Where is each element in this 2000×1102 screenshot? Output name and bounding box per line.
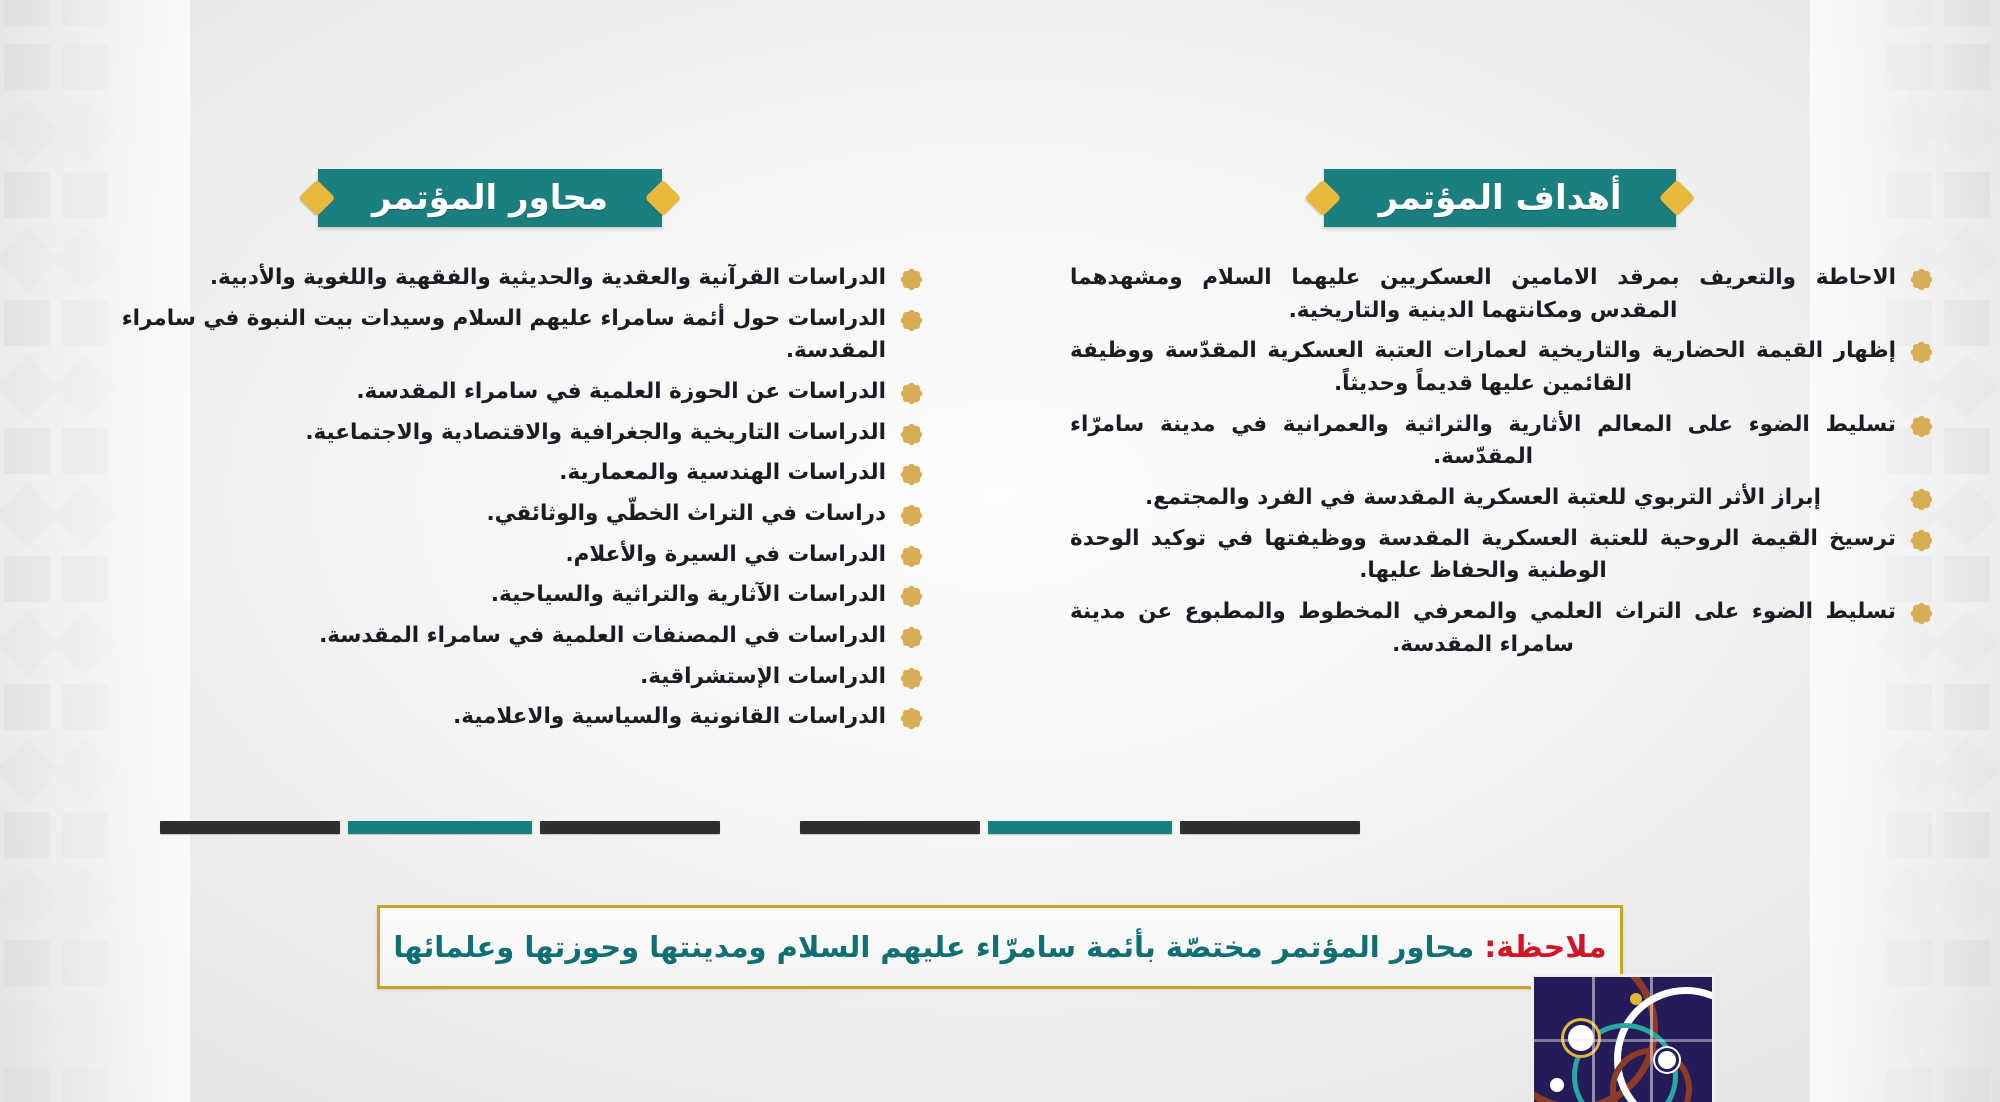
list-item-text: الدراسات الآثارية والتراثية والسياحية. (491, 582, 886, 607)
list-item-text: إبراز الأثر التربوي للعتبة العسكرية المق… (1145, 485, 1821, 510)
list-item: دراسات في التراث الخطّي والوثائقي. (60, 498, 920, 531)
star-bullet-icon (903, 670, 920, 687)
note-label: ملاحظة: (1484, 930, 1606, 965)
list-item-text: الدراسات الإستشراقية. (640, 664, 886, 689)
list-item: الدراسات في المصنفات العلمية في سامراء ا… (60, 620, 920, 653)
note-box: ملاحظة: محاور المؤتمر مختصّة بأئمة سامرّ… (377, 905, 1623, 989)
objectives-banner-plate: أهداف المؤتمر (1324, 169, 1675, 227)
star-bullet-icon (903, 271, 920, 288)
list-item: الدراسات القرآنية والعقدية والحديثية وال… (60, 262, 920, 295)
list-item: إظهار القيمة الحضارية والتاريخية لعمارات… (1070, 335, 1930, 400)
star-bullet-icon (1913, 605, 1930, 622)
star-bullet-icon (903, 426, 920, 443)
star-bullet-icon (903, 710, 920, 727)
diamond-icon (645, 180, 682, 217)
list-item: الدراسات الإستشراقية. (60, 661, 920, 694)
divider-segment-dark (540, 821, 720, 834)
list-item: تسليط الضوء على التراث العلمي والمعرفي ا… (1070, 596, 1930, 661)
star-bullet-icon (903, 507, 920, 524)
list-item-text: ترسيخ القيمة الروحية للعتبة العسكرية الم… (1070, 526, 1896, 584)
objectives-title: أهداف المؤتمر (1378, 181, 1621, 215)
list-item: الاحاطة والتعريف بمرقد الامامين العسكريي… (1070, 262, 1930, 327)
flower-motif (1550, 1078, 1564, 1092)
star-bullet-icon (903, 312, 920, 329)
divider-segment-teal (348, 821, 532, 834)
poster-page: أهداف المؤتمر الاحاطة والتعريف بمرقد الا… (0, 0, 2000, 1102)
list-item-text: الدراسات القانونية والسياسية والاعلامية. (453, 704, 886, 729)
diamond-icon (299, 180, 336, 217)
content-columns: أهداف المؤتمر الاحاطة والتعريف بمرقد الا… (0, 0, 2000, 860)
list-item: إبراز الأثر التربوي للعتبة العسكرية المق… (1070, 482, 1930, 515)
star-bullet-icon (903, 548, 920, 565)
list-item: الدراسات التاريخية والجغرافية والاقتصادي… (60, 417, 920, 450)
star-bullet-icon (903, 588, 920, 605)
divider-segment-teal (988, 821, 1172, 834)
objectives-list: الاحاطة والتعريف بمرقد الامامين العسكريي… (1070, 262, 1930, 661)
list-item-text: الدراسات الهندسية والمعمارية. (559, 460, 886, 485)
list-item-text: الدراسات القرآنية والعقدية والحديثية وال… (210, 265, 886, 290)
themes-banner: محاور المؤتمر (60, 160, 920, 236)
islamic-tile-ornament (1534, 977, 1712, 1102)
themes-divider (160, 820, 720, 834)
note-inner: ملاحظة: محاور المؤتمر مختصّة بأئمة سامرّ… (393, 930, 1606, 965)
list-item-text: الدراسات حول أئمة سامراء عليهم السلام وس… (122, 306, 886, 364)
list-item: الدراسات الآثارية والتراثية والسياحية. (60, 579, 920, 612)
themes-column: محاور المؤتمر الدراسات القرآنية والعقدية… (60, 0, 920, 742)
list-item: الدراسات حول أئمة سامراء عليهم السلام وس… (60, 303, 920, 368)
divider-segment-dark (160, 821, 340, 834)
star-bullet-icon (1913, 491, 1930, 508)
divider-segment-dark (800, 821, 980, 834)
objectives-column: أهداف المؤتمر الاحاطة والتعريف بمرقد الا… (1070, 0, 1930, 669)
list-item-text: دراسات في التراث الخطّي والوثائقي. (487, 501, 886, 526)
themes-list: الدراسات القرآنية والعقدية والحديثية وال… (60, 262, 920, 734)
list-item-text: الدراسات التاريخية والجغرافية والاقتصادي… (305, 420, 886, 445)
flower-motif (1630, 993, 1642, 1005)
flower-motif (1658, 1051, 1676, 1069)
objectives-banner: أهداف المؤتمر (1070, 160, 1930, 236)
list-item-text: تسليط الضوء على المعالم الأثارية والتراث… (1070, 412, 1896, 470)
tile-seam (1534, 1039, 1712, 1042)
list-item-text: تسليط الضوء على التراث العلمي والمعرفي ا… (1070, 599, 1896, 657)
list-item: ترسيخ القيمة الروحية للعتبة العسكرية الم… (1070, 523, 1930, 588)
list-item-text: إظهار القيمة الحضارية والتاريخية لعمارات… (1070, 338, 1896, 396)
objectives-divider (800, 820, 1360, 834)
star-bullet-icon (1913, 271, 1930, 288)
flower-motif (1568, 1025, 1594, 1051)
list-item: الدراسات عن الحوزة العلمية في سامراء الم… (60, 376, 920, 409)
diamond-icon (1305, 180, 1342, 217)
list-item-text: الدراسات عن الحوزة العلمية في سامراء الم… (356, 379, 886, 404)
star-bullet-icon (1913, 418, 1930, 435)
list-item-text: الدراسات في السيرة والأعلام. (565, 542, 886, 567)
star-bullet-icon (903, 629, 920, 646)
star-bullet-icon (1913, 344, 1930, 361)
themes-banner-plate: محاور المؤتمر (318, 169, 662, 227)
divider-segment-dark (1180, 821, 1360, 834)
themes-title: محاور المؤتمر (372, 181, 608, 215)
star-bullet-icon (1913, 532, 1930, 549)
star-bullet-icon (903, 385, 920, 402)
star-bullet-icon (903, 466, 920, 483)
note-text: محاور المؤتمر مختصّة بأئمة سامرّاء عليهم… (393, 930, 1474, 964)
list-item: الدراسات القانونية والسياسية والاعلامية. (60, 701, 920, 734)
diamond-icon (1658, 180, 1695, 217)
list-item-text: الدراسات في المصنفات العلمية في سامراء ا… (319, 623, 886, 648)
list-item: تسليط الضوء على المعالم الأثارية والتراث… (1070, 409, 1930, 474)
list-item-text: الاحاطة والتعريف بمرقد الامامين العسكريي… (1070, 265, 1896, 323)
list-item: الدراسات في السيرة والأعلام. (60, 539, 920, 572)
list-item: الدراسات الهندسية والمعمارية. (60, 457, 920, 490)
